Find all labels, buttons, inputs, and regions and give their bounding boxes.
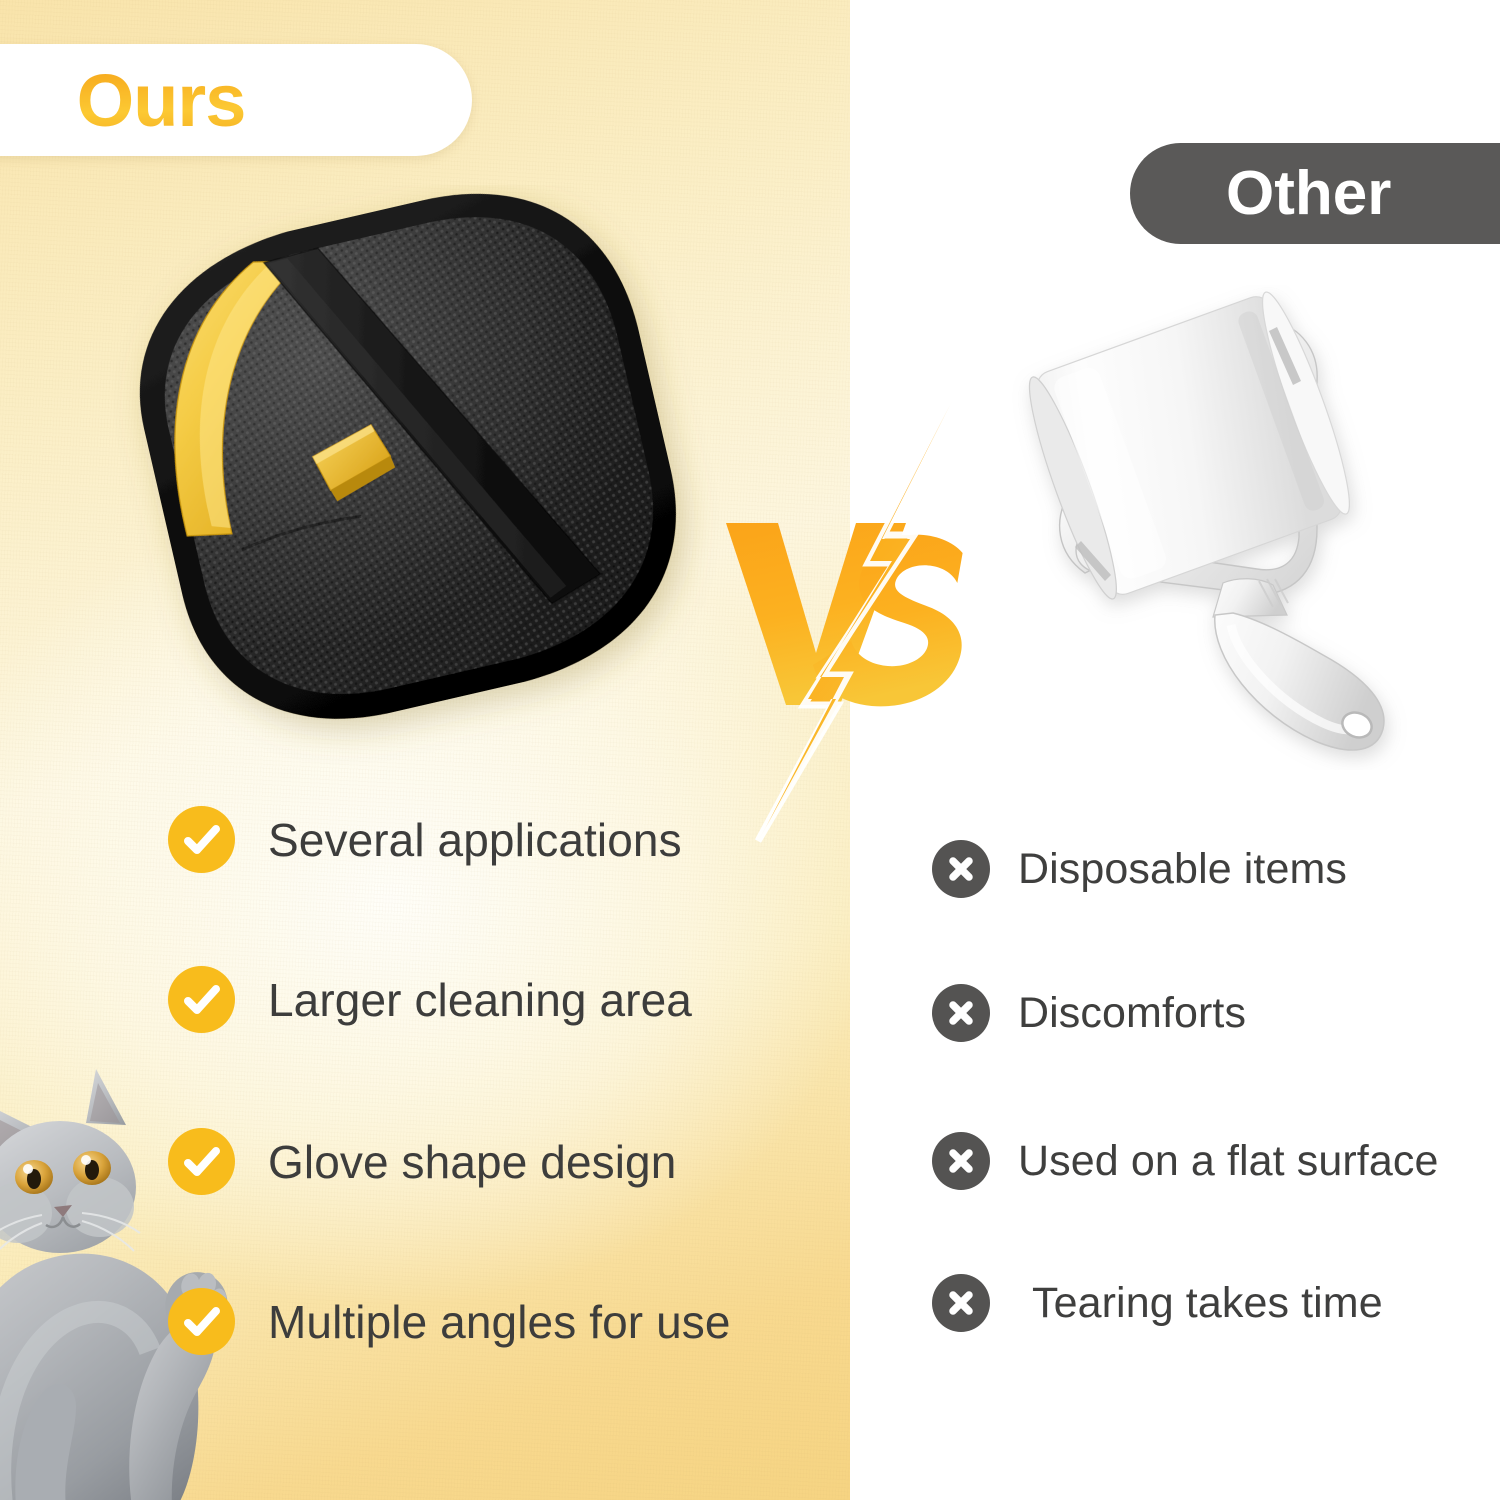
x-circle-icon <box>932 1132 990 1190</box>
list-item-label: Larger cleaning area <box>268 973 692 1027</box>
x-circle-icon <box>932 1274 990 1332</box>
check-circle-icon <box>168 806 235 873</box>
list-item-label: Disposable items <box>1018 845 1347 894</box>
ours-header-pill: Ours <box>0 44 472 156</box>
list-item-label: Glove shape design <box>268 1135 676 1189</box>
list-item: Used on a flat surface <box>932 1132 1438 1190</box>
other-label: Other <box>1226 158 1391 229</box>
x-circle-icon <box>932 840 990 898</box>
x-circle-icon <box>932 984 990 1042</box>
ours-label: Ours <box>77 58 396 143</box>
list-item: Glove shape design <box>168 1128 676 1195</box>
check-circle-icon <box>168 1288 235 1355</box>
list-item: Disposable items <box>932 840 1347 898</box>
other-header-pill: Other <box>1130 143 1500 244</box>
list-item-label: Used on a flat surface <box>1018 1137 1438 1186</box>
check-circle-icon <box>168 966 235 1033</box>
lint-roller-image <box>1005 285 1460 770</box>
vs-badge <box>718 375 1018 845</box>
list-item-label: Several applications <box>268 813 682 867</box>
list-item: Several applications <box>168 806 682 873</box>
list-item-label: Tearing takes time <box>1032 1279 1383 1328</box>
list-item-label: Multiple angles for use <box>268 1295 731 1349</box>
list-item-label: Discomforts <box>1018 989 1246 1038</box>
comparison-infographic: Ours Other <box>0 0 1500 1500</box>
list-item: Discomforts <box>932 984 1246 1042</box>
pet-hair-glove-image <box>55 185 725 765</box>
cat-illustration <box>0 1055 292 1500</box>
list-item: Multiple angles for use <box>168 1288 731 1355</box>
list-item: Tearing takes time <box>932 1274 1383 1332</box>
check-circle-icon <box>168 1128 235 1195</box>
list-item: Larger cleaning area <box>168 966 692 1033</box>
